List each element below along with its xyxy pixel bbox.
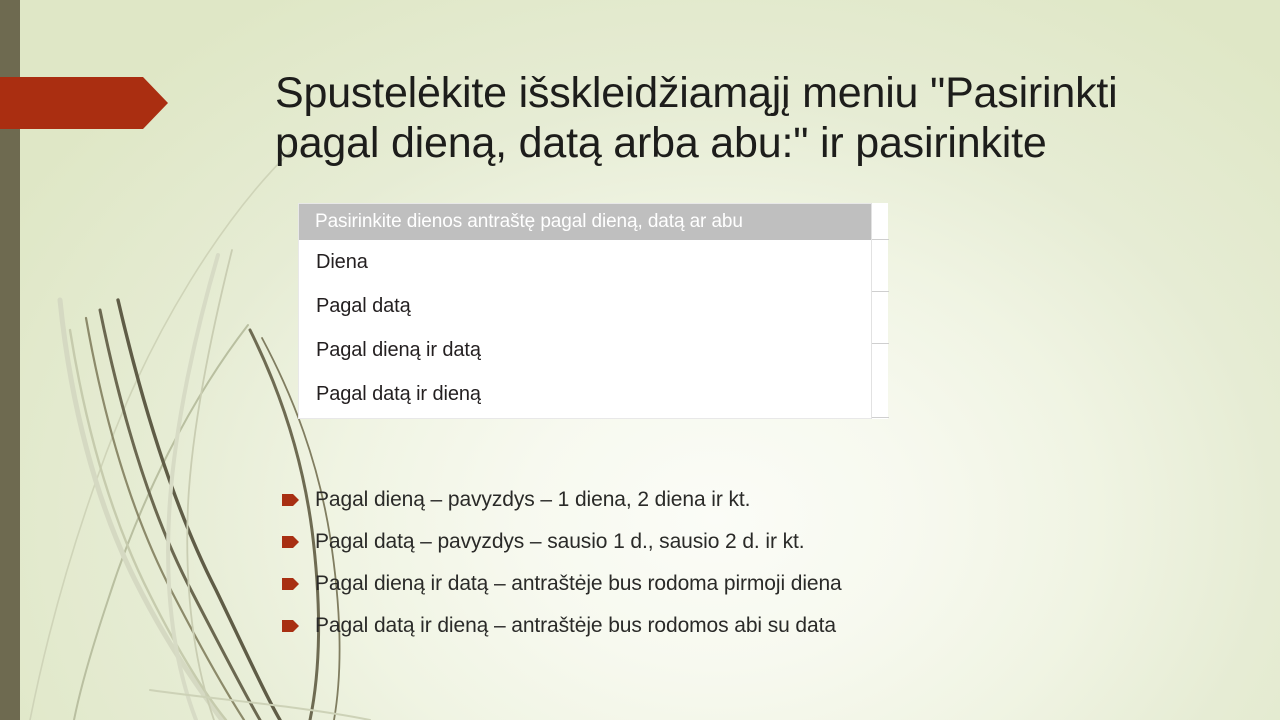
arrow-bullet-icon [282,494,299,506]
divider-line [872,343,889,344]
arrow-bullet-icon [282,578,299,590]
list-item-label: Pagal datą ir dieną – antraštėje bus rod… [315,612,836,640]
dropdown-option-pagal-diena-ir-data[interactable]: Pagal dieną ir datą [299,328,871,372]
arrow-bullet-icon [282,620,299,632]
dropdown-option-diena[interactable]: Diena [299,240,871,284]
list-item: Pagal dieną ir datą – antraštėje bus rod… [282,570,1222,612]
list-item: Pagal datą – pavyzdys – sausio 1 d., sau… [282,528,1222,570]
slide-title: Spustelėkite išskleidžiamąjį meniu "Pasi… [275,68,1175,169]
dropdown-option-pagal-data-ir-diena[interactable]: Pagal datą ir dieną [299,372,871,416]
dropdown-screenshot: Pasirinkite dienos antraštę pagal dieną,… [298,203,888,419]
dropdown-panel[interactable]: Pasirinkite dienos antraštę pagal dieną,… [298,203,872,419]
divider-line [872,291,889,292]
arrow-bullet-icon [282,536,299,548]
list-item-label: Pagal dieną ir datą – antraštėje bus rod… [315,570,842,598]
list-item-label: Pagal datą – pavyzdys – sausio 1 d., sau… [315,528,804,556]
list-item: Pagal datą ir dieną – antraštėje bus rod… [282,612,1222,654]
dropdown-option-list: Diena Pagal datą Pagal dieną ir datą Pag… [299,240,871,416]
list-item-label: Pagal dieną – pavyzdys – 1 diena, 2 dien… [315,486,750,514]
divider-line [872,239,889,240]
red-arrow-banner [0,77,168,129]
dropdown-side-column [871,203,888,419]
dropdown-header: Pasirinkite dienos antraštę pagal dieną,… [299,204,871,240]
bullet-list: Pagal dieną – pavyzdys – 1 diena, 2 dien… [282,486,1222,654]
presentation-slide: Spustelėkite išskleidžiamąjį meniu "Pasi… [0,0,1280,720]
list-item: Pagal dieną – pavyzdys – 1 diena, 2 dien… [282,486,1222,528]
dropdown-option-pagal-data[interactable]: Pagal datą [299,284,871,328]
divider-line [872,417,889,418]
